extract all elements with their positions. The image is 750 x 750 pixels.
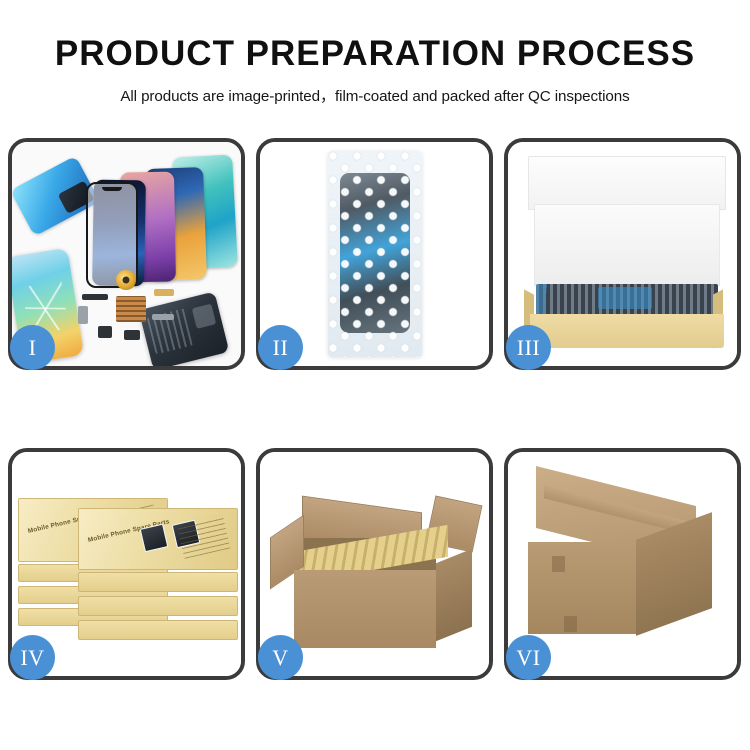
foam-lining-graphic xyxy=(534,204,720,286)
small-part-graphic xyxy=(98,326,112,338)
process-step-1: I xyxy=(8,138,245,370)
process-step-4: Mobile Phone Spare Parts Mobile Phone Sp… xyxy=(8,448,245,680)
process-step-6: VI xyxy=(504,448,741,680)
process-step-5: V xyxy=(256,448,493,680)
retail-box-lid-graphic: Mobile Phone Spare Parts xyxy=(79,509,237,569)
carton-front-panel-graphic xyxy=(294,570,436,648)
retail-box-graphic xyxy=(78,620,238,640)
header: PRODUCT PREPARATION PROCESS All products… xyxy=(0,0,750,106)
retail-box-spec-lines-graphic xyxy=(177,514,231,559)
small-part-graphic xyxy=(82,294,108,300)
retail-box-graphic xyxy=(78,596,238,616)
page-title: PRODUCT PREPARATION PROCESS xyxy=(0,36,750,73)
bubble-wrap-package-graphic xyxy=(328,151,422,357)
infographic-page: PRODUCT PREPARATION PROCESS All products… xyxy=(0,0,750,750)
box-lid-graphic xyxy=(528,156,726,210)
step-badge-1: I xyxy=(10,325,55,370)
small-part-graphic xyxy=(124,330,140,340)
carton-seam-mark-graphic xyxy=(552,556,565,572)
bubble-texture-graphic xyxy=(328,151,422,357)
step-badge-2: II xyxy=(258,325,303,370)
carton-side-panel-graphic xyxy=(436,549,472,642)
retail-box-stack-graphic: Mobile Phone Spare Parts Mobile Phone Sp… xyxy=(18,468,241,668)
sealed-carton-front-graphic xyxy=(528,542,636,634)
process-step-2: II xyxy=(256,138,493,370)
box-front-panel-graphic xyxy=(530,314,724,348)
step-badge-4: IV xyxy=(10,635,55,680)
retail-box-graphic xyxy=(78,572,238,592)
step-badge-3: III xyxy=(506,325,551,370)
gold-coil-part-graphic xyxy=(116,270,136,290)
phone-back-housing-graphic xyxy=(139,291,230,366)
carton-seam-mark-graphic xyxy=(564,616,577,632)
page-subtitle: All products are image-printed，film-coat… xyxy=(0,84,750,106)
small-part-graphic xyxy=(154,289,174,296)
process-step-grid: I II III xyxy=(8,138,742,680)
step-badge-6: VI xyxy=(506,635,551,680)
process-step-3: III xyxy=(504,138,741,370)
copper-mesh-part-graphic xyxy=(116,296,146,322)
retail-box-thumbnail-graphic xyxy=(140,523,168,552)
packed-screen-graphic xyxy=(536,284,718,316)
small-part-graphic xyxy=(78,306,88,324)
step-badge-5: V xyxy=(258,635,303,680)
small-part-graphic xyxy=(152,314,174,320)
retail-box-top-right-graphic: Mobile Phone Spare Parts xyxy=(78,508,238,570)
